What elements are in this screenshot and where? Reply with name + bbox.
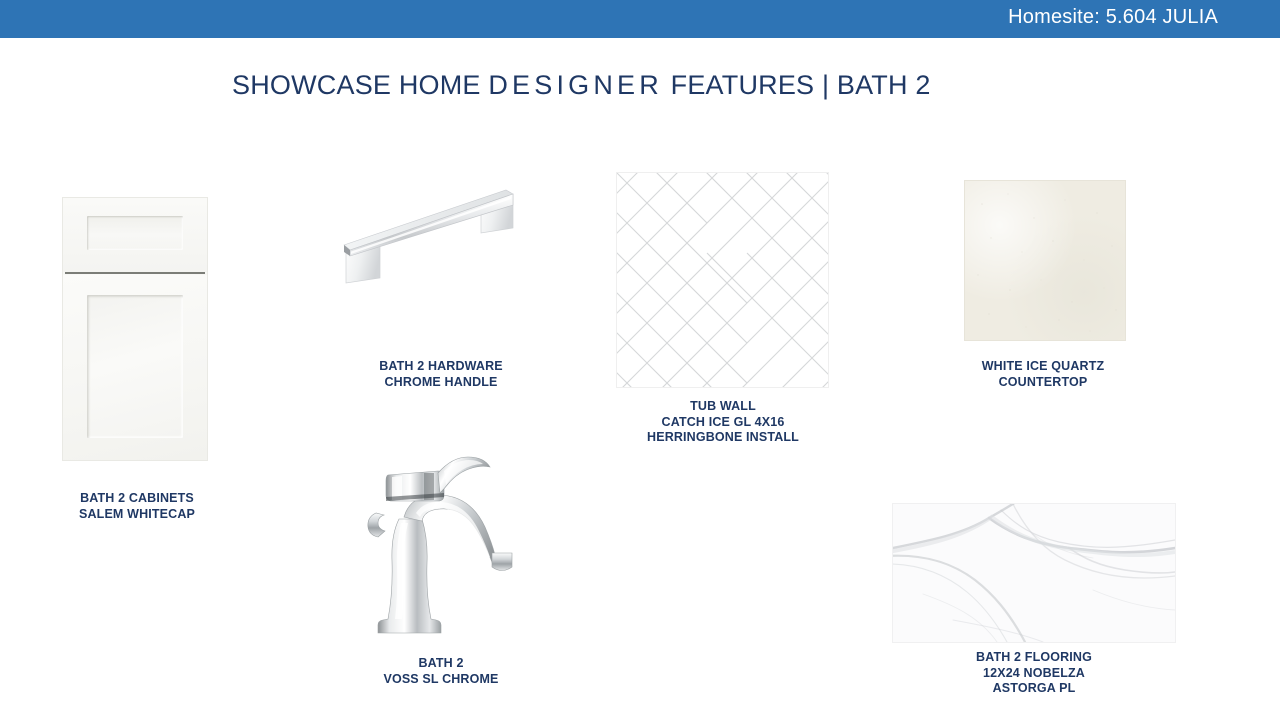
cabinet-divider-line (65, 272, 205, 274)
cabinet-drawer-front (63, 198, 207, 272)
faucet-image (352, 443, 532, 653)
herringbone-tile-image (617, 173, 828, 387)
caption-countertop: WHITE ICE QUARTZ COUNTERTOP (932, 359, 1154, 390)
cabinet-drawer-inset-panel (87, 216, 183, 250)
caption-line: CHROME HANDLE (331, 375, 551, 391)
caption-line: SALEM WHITECAP (17, 507, 257, 523)
caption-line: BATH 2 CABINETS (17, 491, 257, 507)
caption-line: CATCH ICE GL 4X16 (612, 415, 834, 431)
quartz-speckle-icon (964, 180, 1126, 341)
caption-line: WHITE ICE QUARTZ (932, 359, 1154, 375)
page-title: SHOWCASE HOME DESIGNER FEATURES | BATH 2 (232, 70, 931, 101)
caption-line: BATH 2 FLOORING (923, 650, 1145, 666)
caption-line: TUB WALL (612, 399, 834, 415)
caption-cabinets: BATH 2 CABINETS SALEM WHITECAP (17, 491, 257, 522)
caption-line: ASTORGA PL (923, 681, 1145, 697)
homesite-label: Homesite: 5.604 JULIA (1008, 6, 1218, 29)
caption-tub-wall: TUB WALL CATCH ICE GL 4X16 HERRINGBONE I… (612, 399, 834, 446)
marble-veining-icon (893, 504, 1175, 642)
handle-icon (335, 182, 525, 287)
herringbone-pattern-icon (617, 173, 828, 387)
caption-line: BATH 2 HARDWARE (331, 359, 551, 375)
cabinet-lower-door (63, 275, 207, 460)
cabinet-door-inset-panel (87, 295, 183, 438)
caption-line: 12X24 NOBELZA (923, 666, 1145, 682)
chrome-handle-image (335, 182, 525, 287)
caption-line: VOSS SL CHROME (330, 672, 552, 688)
cabinet-door-image (63, 198, 207, 460)
page-title-designer-word: DESIGNER (488, 70, 663, 100)
caption-line: HERRINGBONE INSTALL (612, 430, 834, 446)
page-title-prefix: SHOWCASE HOME (232, 70, 488, 100)
flooring-tile-image (893, 504, 1175, 642)
caption-line: BATH 2 (330, 656, 552, 672)
page-title-suffix: FEATURES | BATH 2 (663, 70, 931, 100)
caption-line: COUNTERTOP (932, 375, 1154, 391)
caption-hardware: BATH 2 HARDWARE CHROME HANDLE (331, 359, 551, 390)
caption-flooring: BATH 2 FLOORING 12X24 NOBELZA ASTORGA PL (923, 650, 1145, 697)
quartz-countertop-image (964, 180, 1126, 341)
faucet-icon (352, 443, 532, 653)
caption-faucet: BATH 2 VOSS SL CHROME (330, 656, 552, 687)
